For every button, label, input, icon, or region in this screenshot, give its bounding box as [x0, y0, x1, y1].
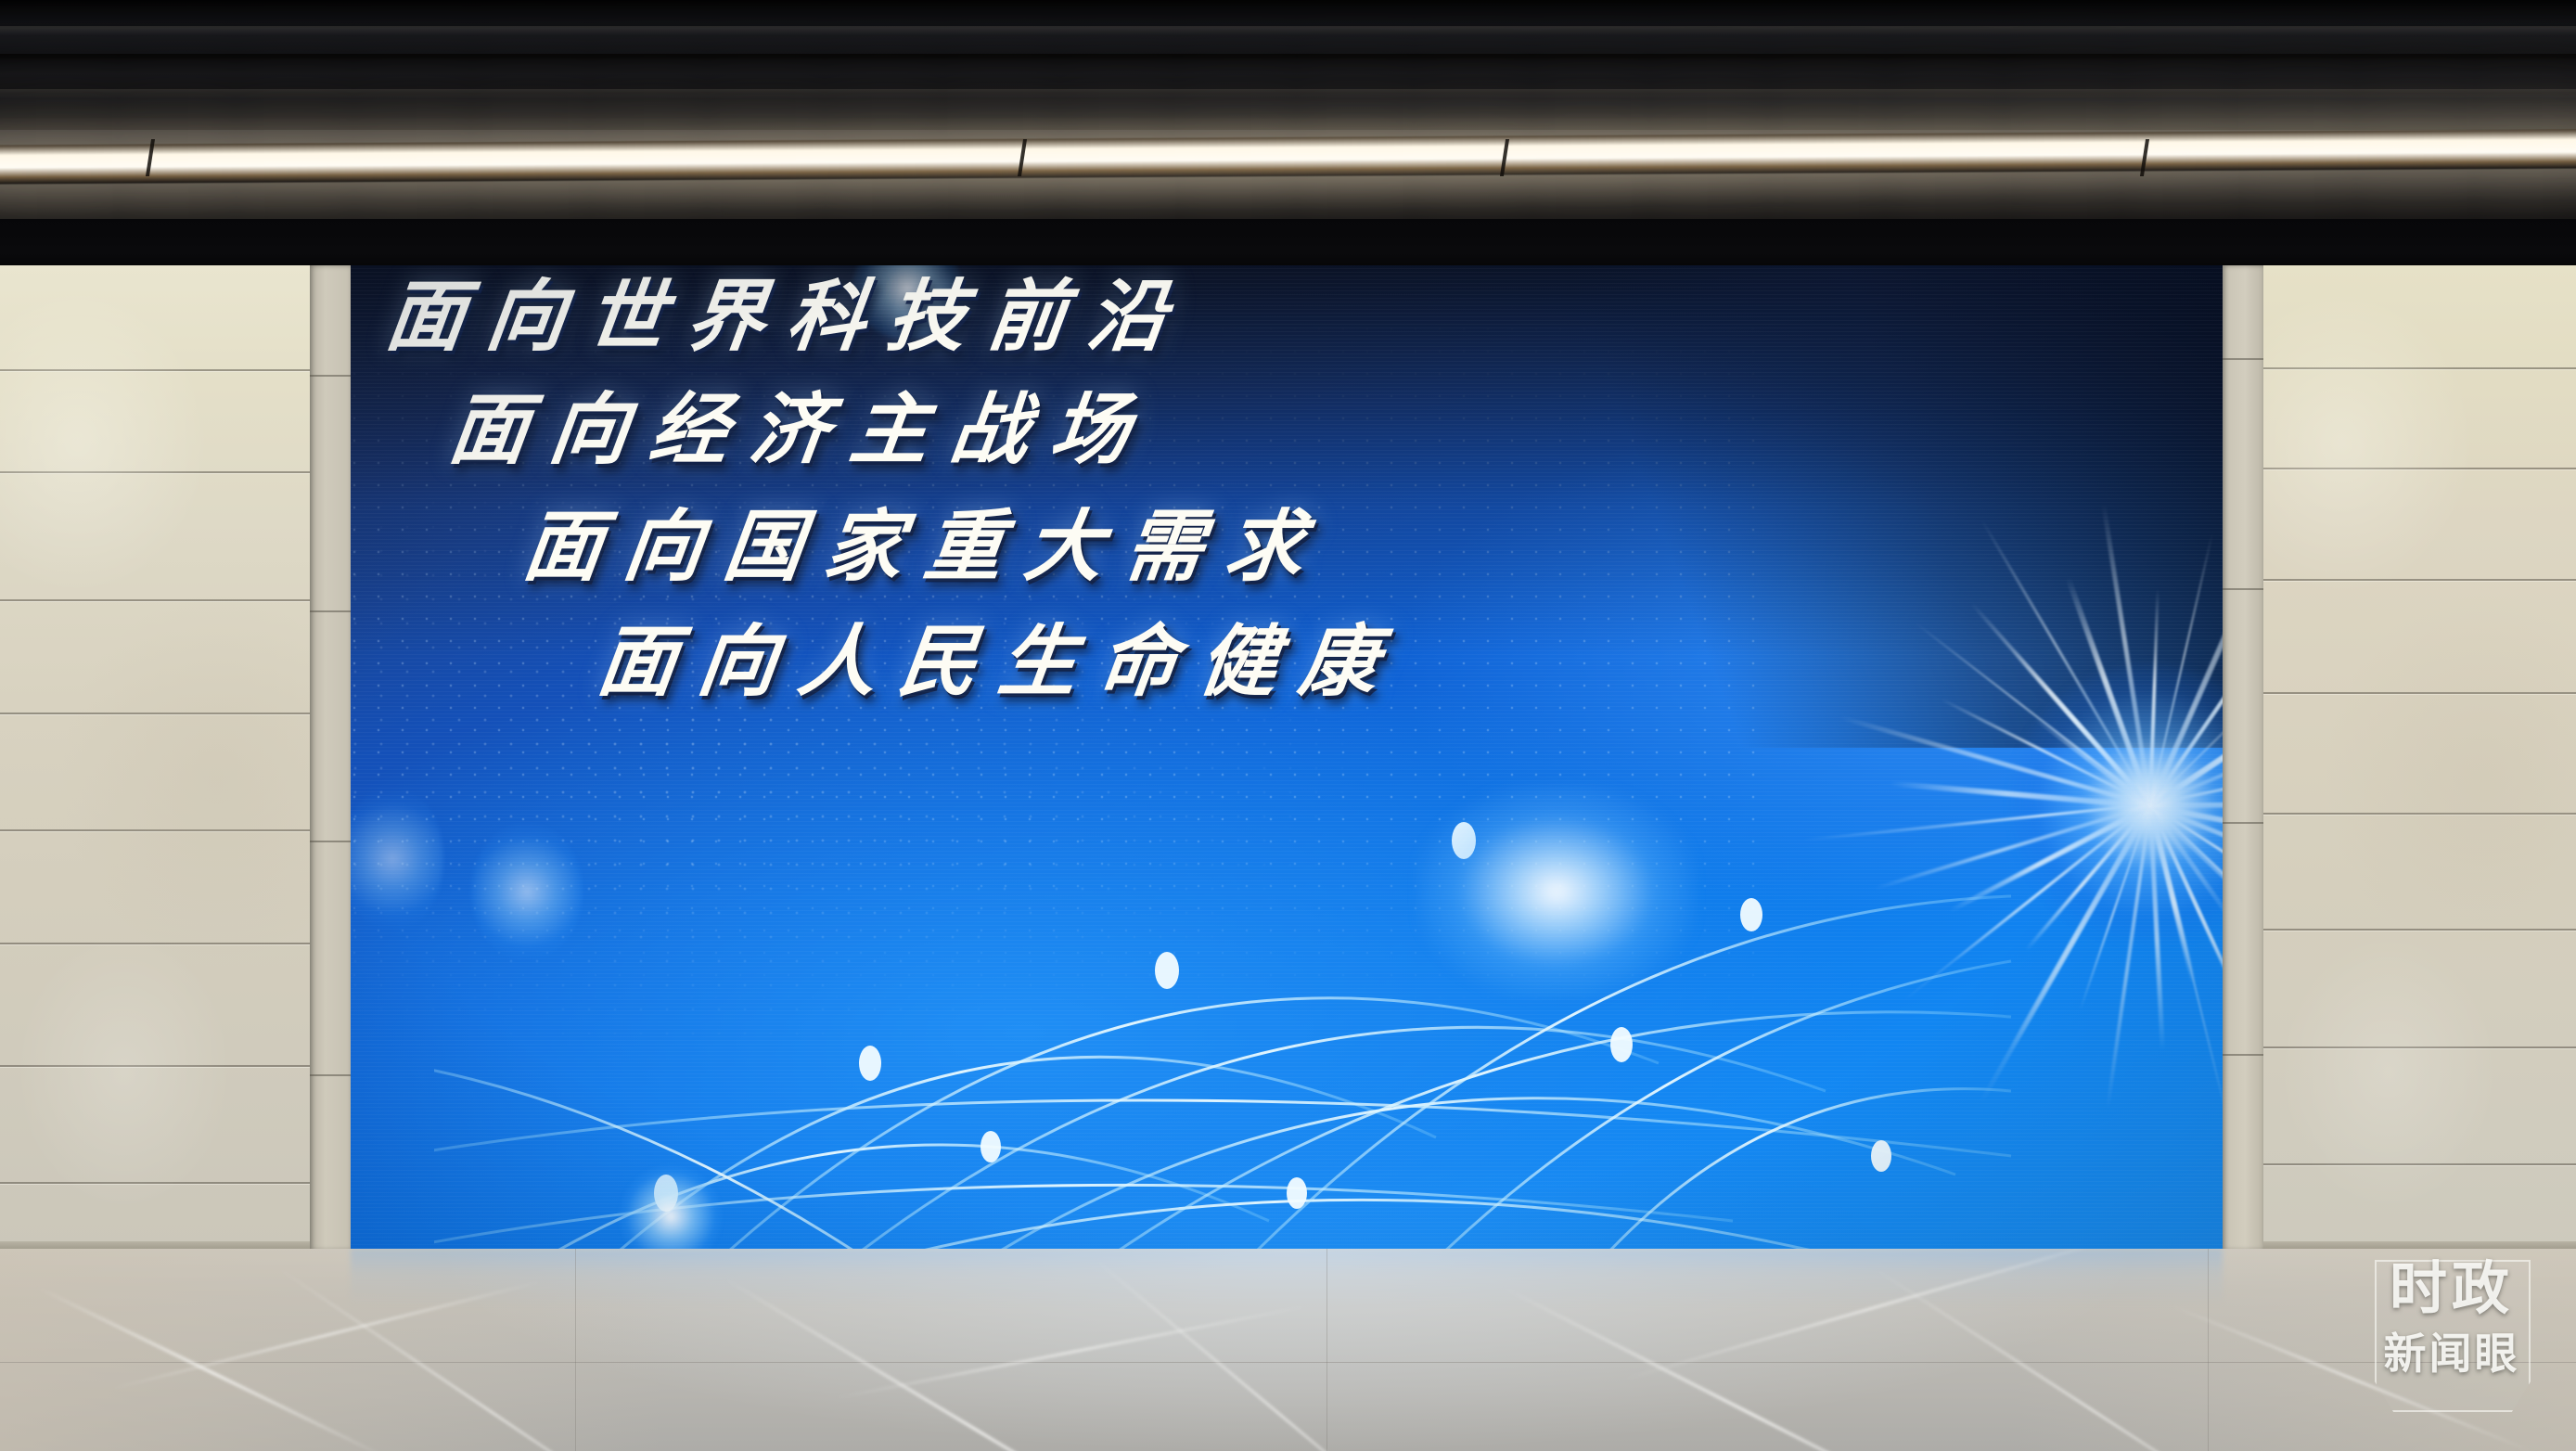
burst-ray: [2147, 805, 2197, 984]
ceiling: [0, 0, 2576, 278]
floor-tile-grout: [575, 1249, 576, 1451]
burst-ray: [2148, 804, 2223, 927]
return-panel-joint: [2223, 822, 2263, 824]
led-video-wall[interactable]: 面向世界科技前沿 面向经济主战场 面向国家重大需求 面向人民生命健康: [351, 265, 2223, 1249]
burst-ray: [2149, 803, 2223, 905]
burst-ray: [2024, 804, 2151, 952]
wall-return-right: [2223, 265, 2263, 1251]
burst-ray: [2150, 803, 2223, 805]
return-panel-joint: [2223, 1054, 2263, 1056]
burst-ray: [2149, 803, 2223, 968]
network-arcs-svg: [434, 785, 2030, 1249]
burst-ray: [1801, 803, 2150, 841]
burst-ray: [2079, 804, 2151, 1011]
burst-ray: [1890, 780, 2150, 809]
wall-panel-joint: [2263, 579, 2576, 581]
lobby-scene: 面向世界科技前沿 面向经济主战场 面向国家重大需求 面向人民生命健康 时政 新闻…: [0, 0, 2576, 1451]
burst-ray: [2150, 763, 2223, 805]
burst-ray: [2149, 804, 2223, 1052]
wall-panel-joint: [0, 713, 310, 714]
burst-ray: [1874, 803, 2151, 891]
burst-ray: [1979, 804, 2152, 1104]
wall-panel-joint: [0, 471, 310, 473]
return-panel-joint: [310, 841, 351, 842]
screen-left-flare: [351, 785, 443, 933]
burst-ray: [2150, 799, 2223, 809]
burst-ray: [2127, 804, 2151, 959]
wall-panel-joint: [0, 943, 310, 944]
ceiling-shadow-band-2: [0, 54, 2576, 74]
wall-panel-joint: [2263, 367, 2576, 369]
burst-ray: [1949, 803, 2151, 913]
return-panel-joint: [310, 610, 351, 612]
wall-panel-joint: [2263, 929, 2576, 931]
burst-ray: [2148, 805, 2165, 1050]
marble-floor: [0, 1249, 2576, 1451]
burst-ray: [2148, 804, 2223, 1014]
wall-panel-joint: [0, 1182, 310, 1184]
burst-ray: [1983, 756, 2150, 806]
return-panel-joint: [2223, 358, 2263, 360]
floor-tile-grout: [1326, 1249, 1327, 1451]
wall-panel-joint: [0, 829, 310, 831]
burst-ray: [1952, 803, 2150, 826]
screen-right-shading: [1555, 265, 2223, 748]
burst-ray: [2150, 751, 2223, 805]
wall-panel-joint: [2263, 468, 2576, 469]
ceiling-rail-2: [0, 89, 2576, 98]
burst-ray: [1903, 803, 2150, 1001]
globe-center-flare: [1417, 785, 1696, 998]
ceiling-rail-1: [0, 26, 2576, 35]
network-node-glow: [620, 1165, 722, 1249]
burst-ray: [2149, 803, 2223, 847]
burst-ray: [2106, 805, 2152, 1110]
wall-panel-joint: [0, 369, 310, 371]
burst-ray: [2149, 803, 2223, 928]
wall-left: [0, 265, 310, 1249]
screen-flare: [471, 822, 583, 961]
burst-ray: [2008, 805, 2152, 1051]
wall-return-left: [310, 265, 351, 1251]
wall-right: [2263, 265, 2576, 1249]
wall-panel-joint: [2263, 813, 2576, 815]
return-panel-joint: [2223, 588, 2263, 590]
burst-ray: [2149, 803, 2223, 900]
wall-panel-joint: [2263, 692, 2576, 694]
return-panel-joint: [310, 375, 351, 377]
burst-ray: [2148, 804, 2223, 996]
return-panel-joint: [310, 1074, 351, 1076]
globe-network-graphic: [434, 785, 2030, 1249]
burst-ray: [2149, 804, 2223, 1129]
floor-tile-grout: [0, 1362, 2576, 1363]
wall-panel-joint: [2263, 1047, 2576, 1048]
wall-panel-joint: [0, 1065, 310, 1067]
burst-ray: [1951, 803, 2151, 963]
wall-panel-joint: [0, 599, 310, 601]
ceiling-shadow-band-1: [0, 0, 2576, 24]
burst-ray: [2004, 803, 2152, 884]
wall-panel-joint: [2263, 1163, 2576, 1165]
floor-tile-grout: [2208, 1249, 2209, 1451]
